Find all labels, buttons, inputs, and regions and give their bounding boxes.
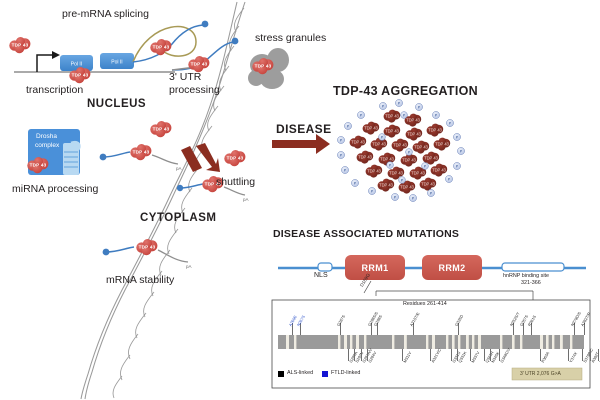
legend-label-als: ALS-linked bbox=[287, 370, 313, 376]
tdp43-text: TDP 43 bbox=[12, 43, 29, 48]
aggregate-unit: TDP 43 bbox=[384, 110, 401, 123]
utr-processing-label-line2: processing bbox=[169, 84, 220, 96]
aggregate-unit: TDP 43 bbox=[413, 141, 430, 154]
figure-artwork: Pol II Pol II TDP 43 TDP 43 TDP 43 TDP 4… bbox=[0, 0, 600, 400]
drosha-label-line1: Drosha bbox=[36, 133, 57, 140]
polya-tail-label: pA bbox=[176, 166, 182, 171]
svg-text:TDP 43: TDP 43 bbox=[411, 170, 426, 175]
tdp43-protein: TDP 43 bbox=[9, 37, 30, 53]
rrm1-label: RRM1 bbox=[361, 263, 388, 273]
aggregate-unit: TDP 43 bbox=[357, 151, 374, 164]
tdp43-text: TDP 43 bbox=[72, 73, 89, 78]
tdp43-text: TDP 43 bbox=[139, 245, 156, 250]
svg-text:TDP 43: TDP 43 bbox=[406, 117, 421, 122]
legend-swatch-ftld bbox=[322, 371, 328, 377]
svg-text:TDP 43: TDP 43 bbox=[389, 170, 404, 175]
utr-processing-label-line1: 3' UTR bbox=[169, 71, 201, 83]
svg-text:TDP 43: TDP 43 bbox=[435, 141, 450, 146]
nls-region bbox=[318, 263, 332, 271]
tdp43-protein: TDP 43 bbox=[224, 150, 245, 166]
tdp43-text: TDP 43 bbox=[191, 62, 208, 67]
tdp43-protein: TDP 43 bbox=[188, 56, 209, 72]
aggregate-unit: TDP 43 bbox=[363, 122, 380, 135]
aggregate-unit: TDP 43 bbox=[378, 179, 395, 192]
rrm2-label: RRM2 bbox=[438, 263, 465, 273]
transcription-complex: Pol II Pol II TDP 43 TDP 43 bbox=[9, 37, 175, 83]
tdp43-protein: TDP 43 bbox=[150, 121, 171, 137]
aggregation-title: TDP-43 AGGREGATION bbox=[333, 84, 478, 98]
cap-dot bbox=[202, 21, 209, 28]
svg-text:TDP 43: TDP 43 bbox=[367, 168, 382, 173]
svg-text:TDP 43: TDP 43 bbox=[414, 144, 429, 149]
mutations-title: DISEASE ASSOCIATED MUTATIONS bbox=[273, 228, 459, 240]
svg-text:TDP 43: TDP 43 bbox=[393, 142, 408, 147]
aggregate-unit: TDP 43 bbox=[392, 139, 409, 152]
svg-text:TDP 43: TDP 43 bbox=[407, 131, 422, 136]
tdp43-protein: TDP 43 bbox=[130, 144, 151, 160]
svg-text:TDP 43: TDP 43 bbox=[358, 154, 373, 159]
stress-granules-label: stress granules bbox=[255, 32, 326, 44]
tdp43-figure: Pol II Pol II TDP 43 TDP 43 TDP 43 TDP 4… bbox=[0, 0, 600, 400]
mrna-stability-label: mRNA stability bbox=[106, 274, 174, 286]
nls-label: NLS bbox=[314, 272, 328, 279]
svg-text:TDP 43: TDP 43 bbox=[385, 113, 400, 118]
transcription-label: transcription bbox=[26, 84, 83, 96]
hnrnp-label-line1: hnRNP binding site bbox=[503, 273, 549, 279]
aggregate-unit: TDP 43 bbox=[420, 178, 437, 191]
cap-dot bbox=[232, 38, 239, 45]
residue-bar bbox=[278, 335, 584, 349]
legend-swatch-als bbox=[278, 371, 284, 377]
hnrnp-binding-region bbox=[502, 263, 564, 271]
svg-text:TDP 43: TDP 43 bbox=[421, 181, 436, 186]
tdp43-protein: TDP 43 bbox=[150, 39, 171, 55]
svg-text:TDP 43: TDP 43 bbox=[379, 182, 394, 187]
aggregate-unit: TDP 43 bbox=[371, 138, 388, 151]
disease-label: DISEASE bbox=[276, 122, 331, 136]
aggregate-unit: TDP 43 bbox=[350, 136, 367, 149]
shuttling-arrows bbox=[181, 143, 220, 172]
hnrnp-label-line2: 321-366 bbox=[521, 280, 541, 286]
tdp43-text: TDP 43 bbox=[255, 64, 272, 69]
tdp43-text: TDP 43 bbox=[133, 150, 150, 155]
svg-text:TDP 43: TDP 43 bbox=[364, 125, 379, 130]
utr-variant-label: 3' UTR 2,076 G>A bbox=[520, 371, 561, 377]
residues-range-label: Residues 261-414 bbox=[403, 301, 447, 307]
cytoplasm-label: CYTOPLASM bbox=[140, 212, 217, 224]
svg-text:TDP 43: TDP 43 bbox=[372, 141, 387, 146]
svg-text:TDP 43: TDP 43 bbox=[351, 139, 366, 144]
svg-text:TDP 43: TDP 43 bbox=[385, 128, 400, 133]
svg-text:TDP 43: TDP 43 bbox=[432, 167, 447, 172]
aggregate-unit: TDP 43 bbox=[406, 128, 423, 141]
svg-text:TDP 43: TDP 43 bbox=[424, 155, 439, 160]
mrna-stability-transcript: pA TDP 43 bbox=[103, 239, 192, 269]
polya-tail-label: pA bbox=[186, 264, 192, 269]
aggregate-unit: TDP 43 bbox=[431, 164, 448, 177]
disease-arrow-icon bbox=[272, 134, 330, 154]
splicing-complex: TDP 43 bbox=[133, 21, 208, 62]
tdp43-text: TDP 43 bbox=[153, 45, 170, 50]
nucleus-label: NUCLEUS bbox=[87, 98, 146, 110]
pre-mrna-splicing-label: pre-mRNA splicing bbox=[62, 8, 149, 20]
mirna-processing-label: miRNA processing bbox=[12, 183, 98, 195]
aggregate-unit: TDP 43 bbox=[434, 138, 451, 151]
tdp43-protein: TDP 43 bbox=[136, 239, 157, 255]
shuttling-label: shuttling bbox=[216, 176, 255, 188]
tdp43-text: TDP 43 bbox=[227, 156, 244, 161]
pol2-label-2: Pol II bbox=[111, 60, 122, 66]
pol2-label-1: Pol II bbox=[71, 62, 82, 68]
tdp43-text: TDP 43 bbox=[30, 163, 47, 168]
aggregate-unit: TDP 43 bbox=[384, 125, 401, 138]
svg-text:TDP 43: TDP 43 bbox=[400, 184, 415, 189]
svg-text:TDP 43: TDP 43 bbox=[428, 127, 443, 132]
legend-label-ftld: FTLD-linked bbox=[331, 370, 360, 376]
svg-text:TDP 43: TDP 43 bbox=[380, 156, 395, 161]
aggregate-unit: TDP 43 bbox=[366, 165, 383, 178]
mrna-transcript: pA TDP 43 bbox=[100, 144, 182, 171]
tdp43-text: TDP 43 bbox=[153, 127, 170, 132]
aggregate-unit: TDP 43 bbox=[427, 124, 444, 137]
drosha-label-line2: complex bbox=[35, 142, 59, 149]
svg-text:TDP 43: TDP 43 bbox=[402, 157, 417, 162]
polya-tail-label: pA bbox=[243, 197, 249, 202]
